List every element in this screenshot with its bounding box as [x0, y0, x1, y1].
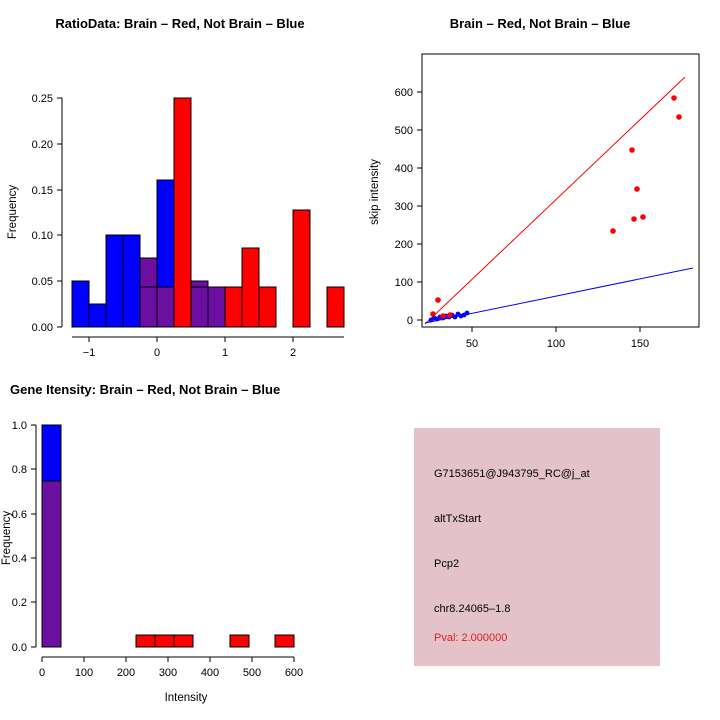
- svg-text:1.0: 1.0: [12, 420, 27, 432]
- svg-text:0.00: 0.00: [32, 322, 53, 334]
- ratio-histogram-y-axis: 0.00 0.05 0.10 0.15 0.20 0.25 Frequency: [7, 93, 62, 334]
- svg-text:0.8: 0.8: [12, 464, 27, 476]
- svg-text:400: 400: [395, 163, 413, 175]
- scatter-x-axis: 50 100 150 include intensity: [466, 327, 649, 362]
- svg-text:Frequency: Frequency: [7, 185, 19, 240]
- svg-text:0: 0: [39, 667, 45, 679]
- svg-text:400: 400: [201, 667, 219, 679]
- svg-text:500: 500: [243, 667, 261, 679]
- svg-text:−1: −1: [83, 347, 96, 359]
- gene-intensity-title: Gene Itensity: Brain – Red, Not Brain – …: [0, 382, 360, 397]
- figure-page: RatioData: Brain – Red, Not Brain – Blue: [0, 0, 720, 720]
- svg-text:500: 500: [395, 125, 413, 137]
- svg-text:50: 50: [466, 338, 478, 350]
- pval-label: Pval: 2.000000: [434, 632, 507, 644]
- scatter-points-brain: [430, 95, 682, 319]
- ratio-histogram-title: RatioData: Brain – Red, Not Brain – Blue: [0, 16, 360, 31]
- svg-text:0.6: 0.6: [12, 509, 27, 521]
- svg-text:0.20: 0.20: [32, 139, 53, 151]
- gene-symbol: Pcp2: [434, 558, 459, 570]
- svg-text:600: 600: [285, 667, 303, 679]
- gene-intensity-plot: 0.0 0.2 0.4 0.6 0.8 1.0 Frequency 0 100 …: [0, 398, 360, 720]
- svg-text:100: 100: [395, 277, 413, 289]
- svg-text:Intensity: Intensity: [165, 692, 208, 704]
- intensity-scatter-plot: 0 100 200 300 400 500 600 skip intensity…: [360, 32, 720, 362]
- panel-ratio-histogram: RatioData: Brain – Red, Not Brain – Blue: [0, 16, 360, 31]
- gene-intensity-bars: [42, 425, 294, 647]
- svg-text:100: 100: [75, 667, 93, 679]
- svg-text:0: 0: [407, 315, 413, 327]
- svg-text:0.25: 0.25: [32, 93, 53, 105]
- ratio-histogram-x-axis: −1 0 1 2 Log2 Ratio Skip/Include: [72, 337, 344, 362]
- svg-text:0.4: 0.4: [12, 553, 27, 565]
- svg-text:0.15: 0.15: [32, 185, 53, 197]
- svg-text:1: 1: [222, 347, 228, 359]
- panel-gene-intensity: Gene Itensity: Brain – Red, Not Brain – …: [0, 382, 360, 397]
- svg-text:300: 300: [159, 667, 177, 679]
- svg-text:0.05: 0.05: [32, 276, 53, 288]
- svg-text:0: 0: [154, 347, 160, 359]
- scatter-fit-lines: [425, 77, 693, 324]
- svg-text:200: 200: [117, 667, 135, 679]
- svg-text:300: 300: [395, 201, 413, 213]
- svg-text:skip intensity: skip intensity: [369, 159, 381, 225]
- svg-text:600: 600: [395, 87, 413, 99]
- svg-text:200: 200: [395, 239, 413, 251]
- svg-text:Frequency: Frequency: [1, 511, 13, 566]
- scatter-title: Brain – Red, Not Brain – Blue: [360, 16, 720, 31]
- panel-intensity-scatter: Brain – Red, Not Brain – Blue: [360, 16, 720, 31]
- svg-text:100: 100: [547, 338, 565, 350]
- gene-info-box: G7153651@J943795_RC@j_at altTxStart Pcp2…: [414, 428, 660, 666]
- scatter-y-axis: 0 100 200 300 400 500 600 skip intensity: [369, 87, 422, 327]
- svg-text:2: 2: [290, 347, 296, 359]
- probeset-id: G7153651@J943795_RC@j_at: [434, 468, 590, 480]
- ratio-histogram-plot: 0.00 0.05 0.10 0.15 0.20 0.25 Frequency …: [0, 32, 360, 362]
- gene-intensity-x-axis: 0 100 200 300 400 500 600 Intensity: [39, 657, 303, 704]
- svg-text:150: 150: [631, 338, 649, 350]
- svg-text:0.10: 0.10: [32, 230, 53, 242]
- locus: chr8.24065–1.8: [434, 603, 510, 615]
- svg-text:0.0: 0.0: [12, 642, 27, 654]
- event-type: altTxStart: [434, 513, 481, 525]
- svg-text:0.2: 0.2: [12, 597, 27, 609]
- scatter-frame: [422, 54, 699, 327]
- gene-intensity-y-axis: 0.0 0.2 0.4 0.6 0.8 1.0 Frequency: [1, 420, 36, 654]
